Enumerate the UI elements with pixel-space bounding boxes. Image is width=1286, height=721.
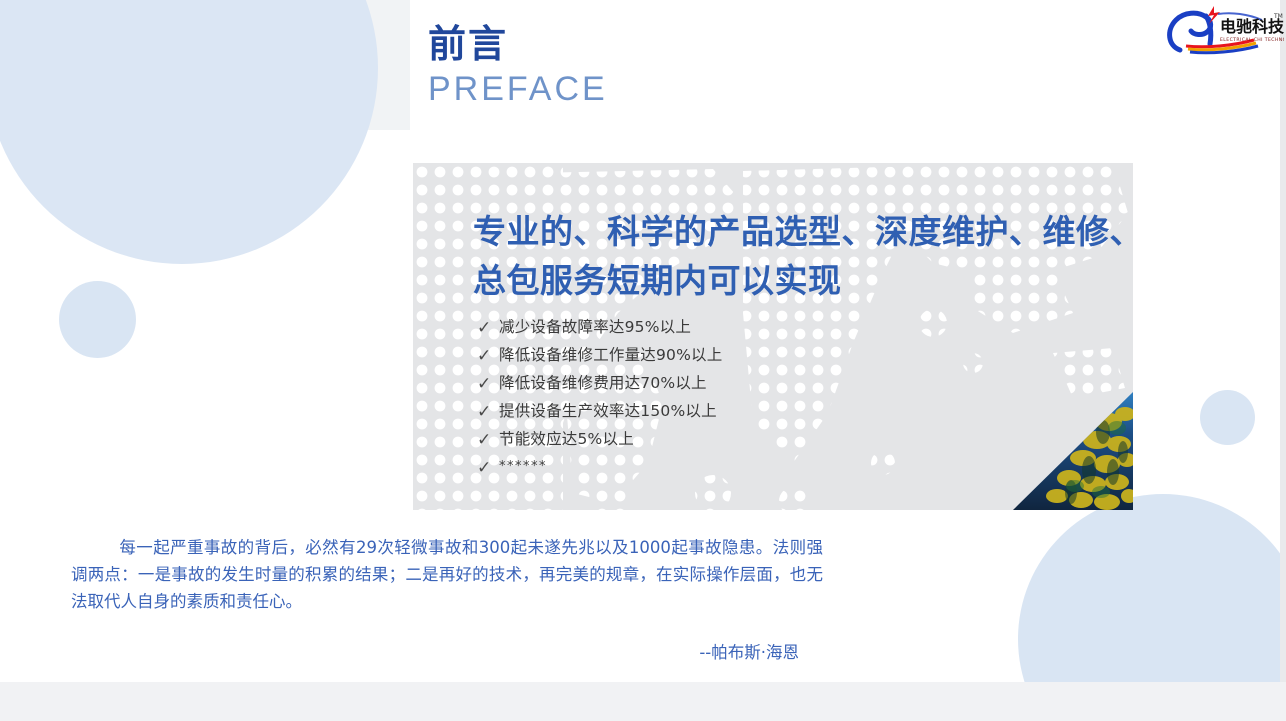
page-title-cn: 前言 (428, 22, 608, 66)
list-item-label: 减少设备故障率达95%以上 (499, 313, 691, 341)
benefits-list: ✓ 减少设备故障率达95%以上 ✓ 降低设备维修工作量达90%以上 ✓ 降低设备… (471, 313, 941, 481)
list-item-label: 降低设备维修工作量达90%以上 (499, 341, 722, 369)
quote-paragraph: 每一起严重事故的背后，必然有29次轻微事故和300起未遂先兆以及1000起事故隐… (71, 534, 823, 615)
list-item-label: 降低设备维修费用达70%以上 (499, 369, 707, 397)
decor-circle-right (1200, 390, 1255, 445)
forest-photo (1013, 392, 1133, 510)
check-icon: ✓ (471, 375, 499, 392)
logo-text-en: ELECTRICAL CHI TECHNOLOGY (1220, 37, 1284, 43)
decor-circle-mid-left (59, 281, 136, 358)
slide-right-edge (1280, 0, 1286, 721)
company-logo: 电驰科技 ELECTRICAL CHI TECHNOLOGY TM (1162, 2, 1284, 56)
check-icon: ✓ (471, 431, 499, 448)
list-item: ✓ 降低设备维修费用达70%以上 (471, 369, 941, 397)
content-panel: 专业的、科学的产品选型、深度维护、维修、总包服务短期内可以实现 ✓ 减少设备故障… (413, 163, 1133, 510)
list-item: ✓ ****** (471, 453, 941, 481)
check-icon: ✓ (471, 459, 499, 476)
list-item: ✓ 减少设备故障率达95%以上 (471, 313, 941, 341)
logo-trademark: TM (1273, 13, 1283, 20)
page-title-en: PREFACE (428, 68, 608, 110)
check-icon: ✓ (471, 403, 499, 420)
slide-bottom-edge (0, 682, 1286, 721)
list-item: ✓ 提供设备生产效率达150%以上 (471, 397, 941, 425)
slide-canvas: 前言 PREFACE 电驰科技 ELECTRICAL CHI TECHNOLOG… (0, 0, 1286, 721)
panel-headline: 专业的、科学的产品选型、深度维护、维修、总包服务短期内可以实现 (473, 207, 1133, 305)
check-icon: ✓ (471, 347, 499, 364)
page-title-block: 前言 PREFACE (428, 22, 608, 110)
list-item-label: 提供设备生产效率达150%以上 (499, 397, 717, 425)
check-icon: ✓ (471, 319, 499, 336)
list-item: ✓ 节能效应达5%以上 (471, 425, 941, 453)
forest-photo-image (1013, 392, 1133, 510)
quote-attribution: --帕布斯·海恩 (71, 639, 823, 663)
quote-paragraph-text: 每一起严重事故的背后，必然有29次轻微事故和300起未遂先兆以及1000起事故隐… (71, 538, 823, 611)
list-item: ✓ 降低设备维修工作量达90%以上 (471, 341, 941, 369)
logo-mark-icon: 电驰科技 ELECTRICAL CHI TECHNOLOGY TM (1162, 2, 1284, 56)
quote-panel: 每一起严重事故的背后，必然有29次轻微事故和300起未遂先兆以及1000起事故隐… (71, 517, 823, 678)
list-item-label: ****** (499, 453, 547, 481)
list-item-label: 节能效应达5%以上 (499, 425, 634, 453)
